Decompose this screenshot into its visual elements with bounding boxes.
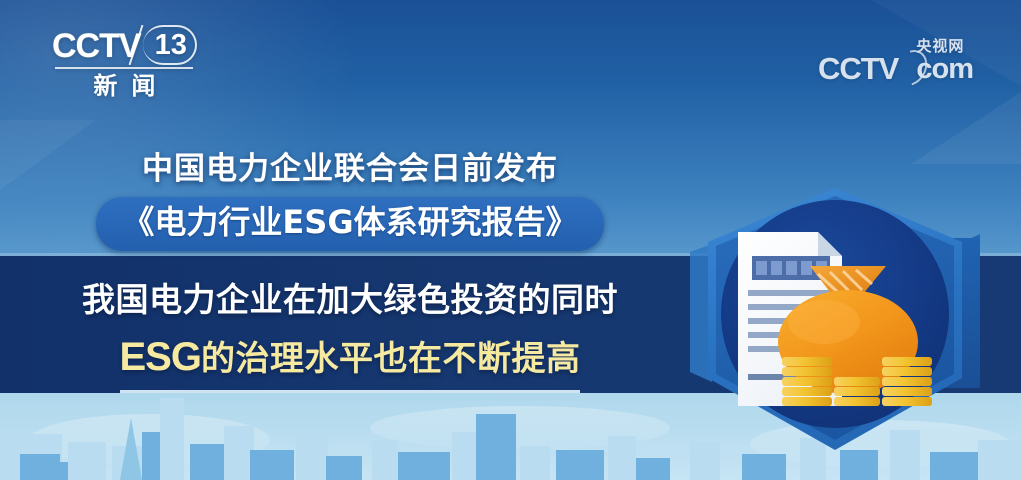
cctv-channel-number-badge: 13 xyxy=(143,28,197,64)
cctvcom-arc-icon xyxy=(898,54,920,84)
esg-acronym: ESG xyxy=(120,335,201,379)
cctv-ring-icon xyxy=(143,25,197,65)
headline-line-4-rest: 的治理水平也在不断提高 xyxy=(201,339,581,379)
headline-line-1: 中国电力企业联合会日前发布 xyxy=(0,150,700,189)
coin-stack-center xyxy=(834,377,880,406)
headline-line-4: ESG的治理水平也在不断提高 xyxy=(120,331,581,393)
cctv-13-logo: CCTV 13 新闻 xyxy=(52,28,197,99)
skyline-building xyxy=(160,398,184,480)
skyline-building xyxy=(556,450,604,480)
skyline-building xyxy=(476,414,516,480)
headline-line-3: 我国电力企业在加大绿色投资的同时 xyxy=(0,279,700,320)
skyline-building xyxy=(250,450,294,480)
skyline-building xyxy=(326,456,362,480)
bg-facet-right xyxy=(911,92,1021,164)
skyline-building xyxy=(224,426,254,480)
cctv-underline-rule xyxy=(55,67,193,69)
skyline-building xyxy=(398,452,450,480)
skyline-building xyxy=(520,446,550,480)
skyline-building xyxy=(372,440,398,480)
esg-investment-illustration xyxy=(690,182,980,457)
skyline-building xyxy=(742,454,786,480)
headline-block: 中国电力企业联合会日前发布 《电力行业ESG体系研究报告》 我国电力企业在加大绿… xyxy=(0,150,700,393)
cctv-com-logo: CCTV 央视网 com xyxy=(818,38,973,84)
skyline-building xyxy=(636,458,670,480)
report-title-pill: 《电力行业ESG体系研究报告》 xyxy=(96,197,603,252)
cctv-13-wordmark-row: CCTV 13 xyxy=(52,28,197,64)
cctv-wordmark: CCTV xyxy=(52,29,141,63)
cctv-channel-name-cn: 新闻 xyxy=(79,73,169,99)
skyline-building xyxy=(190,444,224,480)
news-graphic-canvas: CCTV 13 新闻 CCTV 央视网 com 中国电力企业联合会日前发布 《电… xyxy=(0,0,1021,480)
cctvcom-wordmark: CCTV xyxy=(818,53,898,84)
money-bag-highlight xyxy=(788,300,860,344)
coin-stack-right xyxy=(882,357,932,406)
skyline-building xyxy=(68,442,106,480)
skyline-building xyxy=(452,432,476,480)
report-title-pill-wrap: 《电力行业ESG体系研究报告》 xyxy=(0,197,700,252)
coin-stack-left xyxy=(782,357,832,406)
skyline-building xyxy=(20,454,60,480)
skyline-building xyxy=(978,440,1021,480)
headline-line-4-wrap: ESG的治理水平也在不断提高 xyxy=(0,331,700,393)
skyline-building xyxy=(296,434,328,480)
skyline-building xyxy=(608,436,636,480)
